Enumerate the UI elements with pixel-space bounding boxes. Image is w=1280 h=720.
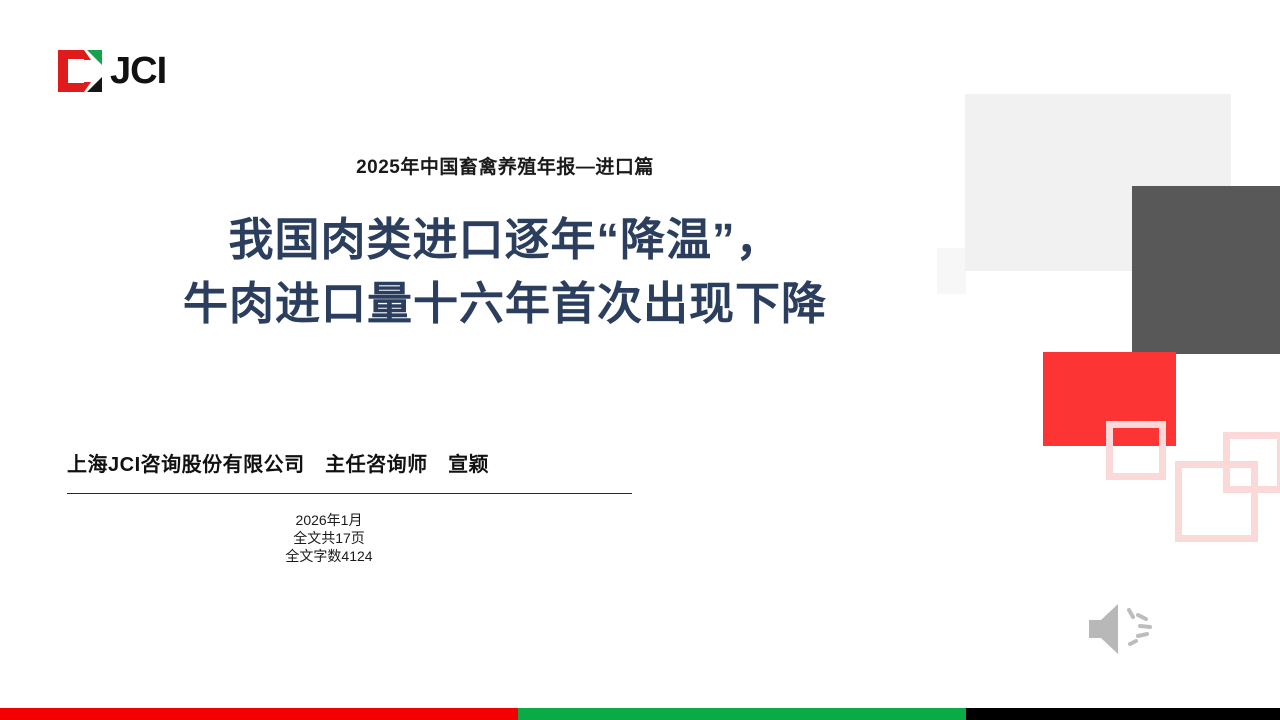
decor-pink-outline-square-1	[1106, 421, 1166, 480]
author-affiliation: 上海JCI咨询股份有限公司 主任咨询师 宣颖	[67, 448, 489, 477]
slide-subtitle: 2025年中国畜禽养殖年报—进口篇	[0, 152, 1010, 179]
bottom-bar-green-segment	[518, 708, 966, 720]
bottom-bar-red-segment	[0, 708, 518, 720]
decor-dark-gray-rectangle	[1132, 186, 1280, 354]
logo-wordmark: JCI	[110, 49, 166, 93]
decor-pink-outline-square-3	[1175, 461, 1258, 542]
bottom-color-bar	[0, 708, 1280, 720]
meta-word-count: 全文字数4124	[67, 547, 591, 565]
jci-logo-mark-icon	[58, 49, 106, 93]
slide-title-line-2: 牛肉进口量十六年首次出现下降	[0, 272, 1010, 336]
slide-meta: 2026年1月 全文共17页 全文字数4124	[67, 511, 591, 565]
company-logo: JCI	[58, 48, 166, 94]
presentation-slide: JCI 2025年中国畜禽养殖年报—进口篇 我国肉类进口逐年“降温”， 牛肉进口…	[0, 0, 1280, 720]
meta-page-count: 全文共17页	[67, 529, 591, 547]
horizontal-divider	[67, 493, 632, 494]
bottom-bar-black-segment	[966, 708, 1280, 720]
slide-title: 我国肉类进口逐年“降温”， 牛肉进口量十六年首次出现下降	[0, 208, 1010, 336]
speaker-sound-icon[interactable]	[1085, 598, 1165, 660]
meta-date: 2026年1月	[67, 511, 591, 529]
slide-title-line-1: 我国肉类进口逐年“降温”，	[0, 208, 1010, 272]
